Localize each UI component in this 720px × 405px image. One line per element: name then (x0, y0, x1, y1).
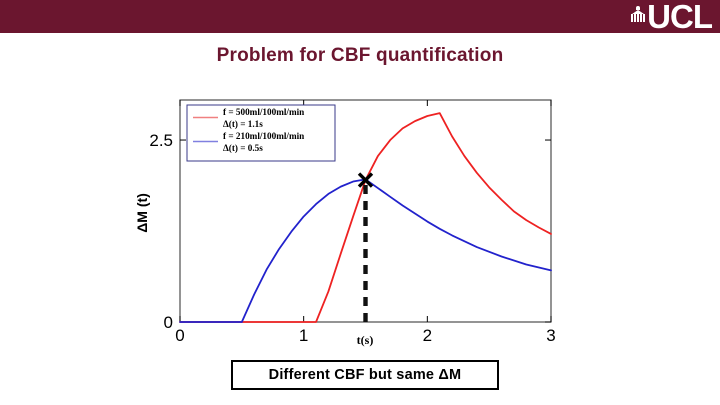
page-title: Problem for CBF quantification (0, 45, 720, 67)
chart-legend: f = 500ml/100ml/min Δ(t) = 1.1s f = 210m… (187, 105, 335, 161)
y-tick-label: 0 (164, 313, 173, 332)
x-axis-label: t(s) (357, 333, 374, 347)
header-band: UCL (0, 0, 720, 33)
y-axis-label: ΔM (t) (134, 193, 150, 233)
legend-label-red-flow: f = 500ml/100ml/min (223, 107, 304, 117)
ucl-wordmark: UCL (647, 1, 712, 33)
caption-text: Different CBF but same ΔM (269, 367, 462, 383)
legend-label-red-delay: Δ(t) = 1.1s (223, 119, 263, 129)
legend-label-blue-flow: f = 210ml/100ml/min (223, 131, 304, 141)
x-tick-label: 0 (175, 326, 184, 345)
x-tick-label: 3 (546, 326, 555, 345)
portico-columns (631, 14, 645, 22)
y-tick-labels: 02.5 (149, 131, 173, 332)
chart-figure: 0123 02.5 t(s) ΔM (t) f = 500ml/100ml/mi… (130, 88, 590, 348)
ucl-portico-icon (631, 6, 645, 22)
ucl-logo: UCL (631, 1, 712, 33)
chart-svg: 0123 02.5 t(s) ΔM (t) f = 500ml/100ml/mi… (130, 88, 590, 348)
x-tick-label: 2 (423, 326, 432, 345)
caption-box: Different CBF but same ΔM (231, 360, 499, 390)
x-tick-label: 1 (299, 326, 308, 345)
y-tick-label: 2.5 (149, 131, 173, 150)
legend-label-blue-delay: Δ(t) = 0.5s (223, 143, 263, 153)
